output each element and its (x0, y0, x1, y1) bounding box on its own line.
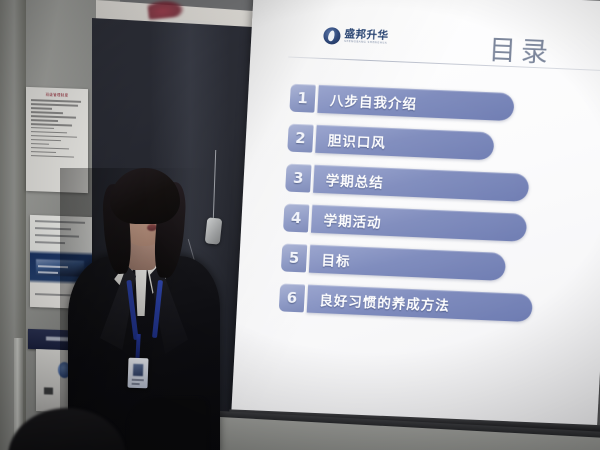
toc-number-badge: 5 (281, 243, 307, 272)
toc-number-badge: 3 (285, 164, 311, 193)
toc-item-label: 八步自我介绍 (317, 85, 514, 121)
toc-item-5[interactable]: 5 目标 (281, 243, 586, 284)
slide-title: 目录 (488, 28, 554, 70)
poster-title: 班级管理制度 (31, 91, 83, 98)
header-divider (288, 57, 600, 72)
toc-number-badge: 2 (287, 124, 313, 153)
id-badge (127, 358, 148, 389)
slide-header: 盛邦升华 SHENGBANG SHENGHUA 目录 (277, 19, 598, 89)
toc-item-4[interactable]: 4 学期活动 (283, 203, 588, 244)
toc-item-label: 良好习惯的养成方法 (307, 285, 533, 323)
toc-item-3[interactable]: 3 学期总结 (285, 164, 590, 205)
toc-item-label: 胆识口风 (315, 125, 494, 161)
projection-screen: 盛邦升华 SHENGBANG SHENGHUA 目录 1 八步自我介绍 2 胆识… (230, 0, 600, 449)
badge-photo (133, 364, 143, 376)
hair-top (110, 168, 180, 224)
vent-slot (44, 387, 53, 394)
toc-number-badge: 1 (289, 84, 315, 113)
poster-body-lines (31, 99, 83, 158)
logo-latin-name: SHENGBANG SHENGHUA (344, 41, 388, 45)
table-of-contents: 1 八步自我介绍 2 胆识口风 3 学期总结 4 学期活动 (265, 83, 595, 324)
presentation-slide: 盛邦升华 SHENGBANG SHENGHUA 目录 1 八步自我介绍 2 胆识… (238, 8, 600, 423)
logo-text: 盛邦升华 SHENGBANG SHENGHUA (344, 29, 389, 46)
toc-number-badge: 6 (279, 283, 305, 312)
toc-item-label: 学期活动 (311, 205, 527, 242)
brand-logo: 盛邦升华 SHENGBANG SHENGHUA (323, 27, 389, 47)
toc-number-badge: 4 (283, 203, 309, 232)
foreground-student-shoulder (128, 398, 208, 450)
circle-swirl-logo-icon (323, 27, 341, 45)
toc-item-label: 学期总结 (313, 165, 529, 202)
toc-item-2[interactable]: 2 胆识口风 (287, 124, 592, 165)
toc-item-6[interactable]: 6 良好习惯的养成方法 (279, 283, 584, 324)
toc-item-1[interactable]: 1 八步自我介绍 (289, 84, 594, 125)
toc-item-label: 目标 (309, 245, 506, 281)
classroom-photo-scene: 班级管理制度 (0, 0, 600, 450)
